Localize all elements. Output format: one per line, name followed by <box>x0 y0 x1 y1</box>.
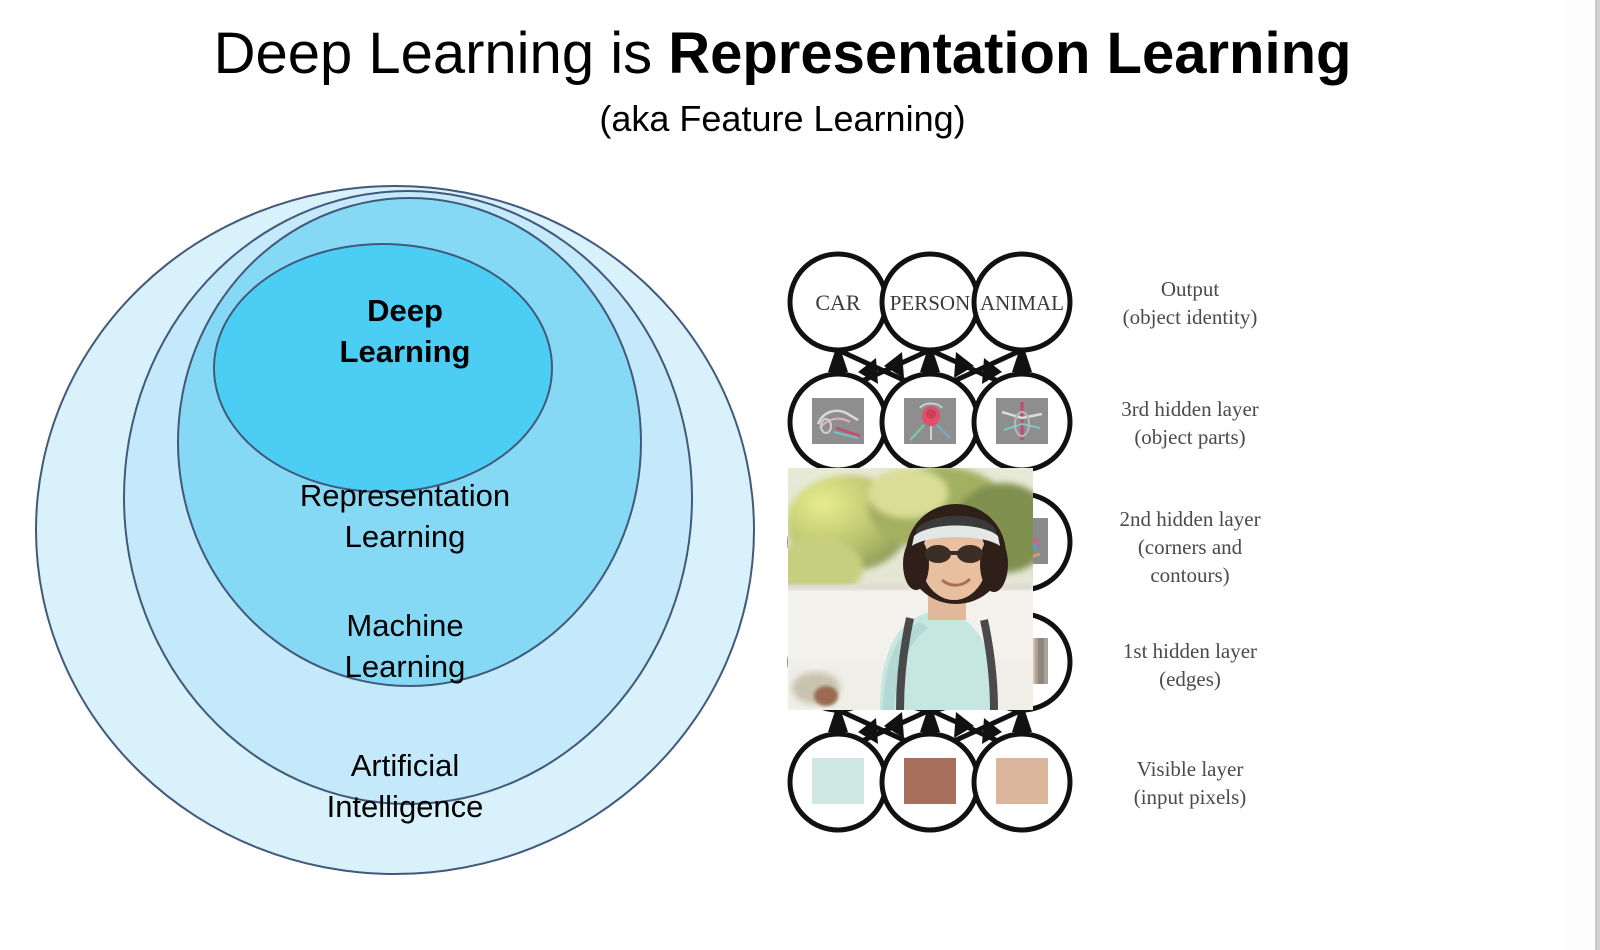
page-title: Deep Learning is Representation Learning <box>0 18 1565 90</box>
input-photograph-svg <box>788 468 1033 710</box>
caption-hidden2-main: 2nd hidden layer <box>1119 507 1260 531</box>
output-node-person-label: PERSON <box>890 291 971 315</box>
deep-network-figure: CAR PERSON ANIMAL <box>780 240 1540 860</box>
network-layer-hidden-3 <box>790 374 1070 470</box>
caption-output-sub: (object identity) <box>1123 305 1258 329</box>
output-node-car-label: CAR <box>815 290 861 315</box>
output-node-animal-label: ANIMAL <box>980 291 1064 315</box>
slide-canvas: Deep Learning is Representation Learning… <box>0 0 1565 950</box>
page-edge-inner <box>1565 0 1597 950</box>
caption-hidden2-sub-a: (corners and <box>1138 535 1243 559</box>
hidden3-tile-animal-parts <box>996 398 1048 444</box>
caption-hidden3-sub: (object parts) <box>1134 425 1245 449</box>
title-block: Deep Learning is Representation Learning… <box>0 18 1565 144</box>
venn-diagram: Deep Learning Representation Learning Ma… <box>25 165 785 895</box>
visible-tile-1 <box>812 758 864 804</box>
network-layer-output: CAR PERSON ANIMAL <box>790 254 1070 350</box>
caption-hidden2-sub-b: contours) <box>1150 563 1229 587</box>
venn-label-artificial-intelligence: Artificial Intelligence <box>25 745 785 827</box>
page-title-plain: Deep Learning is <box>214 21 669 86</box>
caption-visible-main: Visible layer <box>1137 757 1244 781</box>
page-title-emphasis: Representation Learning <box>668 21 1351 86</box>
page-subtitle: (aka Feature Learning) <box>0 94 1565 144</box>
page-edge-strip <box>1565 0 1600 950</box>
caption-hidden1-sub: (edges) <box>1159 667 1221 691</box>
hidden3-tile-face-parts <box>904 398 956 444</box>
input-photograph <box>788 468 1033 710</box>
caption-hidden1-main: 1st hidden layer <box>1123 639 1257 663</box>
venn-label-representation-learning: Representation Learning <box>25 475 785 557</box>
network-layer-visible <box>790 734 1070 830</box>
network-layer-captions: Output (object identity) 3rd hidden laye… <box>1119 277 1260 809</box>
hidden3-tile-car-parts <box>812 398 864 444</box>
visible-tile-3 <box>996 758 1048 804</box>
visible-tile-2 <box>904 758 956 804</box>
caption-output-main: Output <box>1161 277 1220 301</box>
venn-label-deep-learning: Deep Learning <box>25 290 785 372</box>
caption-visible-sub: (input pixels) <box>1134 785 1247 809</box>
venn-label-machine-learning: Machine Learning <box>25 605 785 687</box>
caption-hidden3-main: 3rd hidden layer <box>1121 397 1259 421</box>
